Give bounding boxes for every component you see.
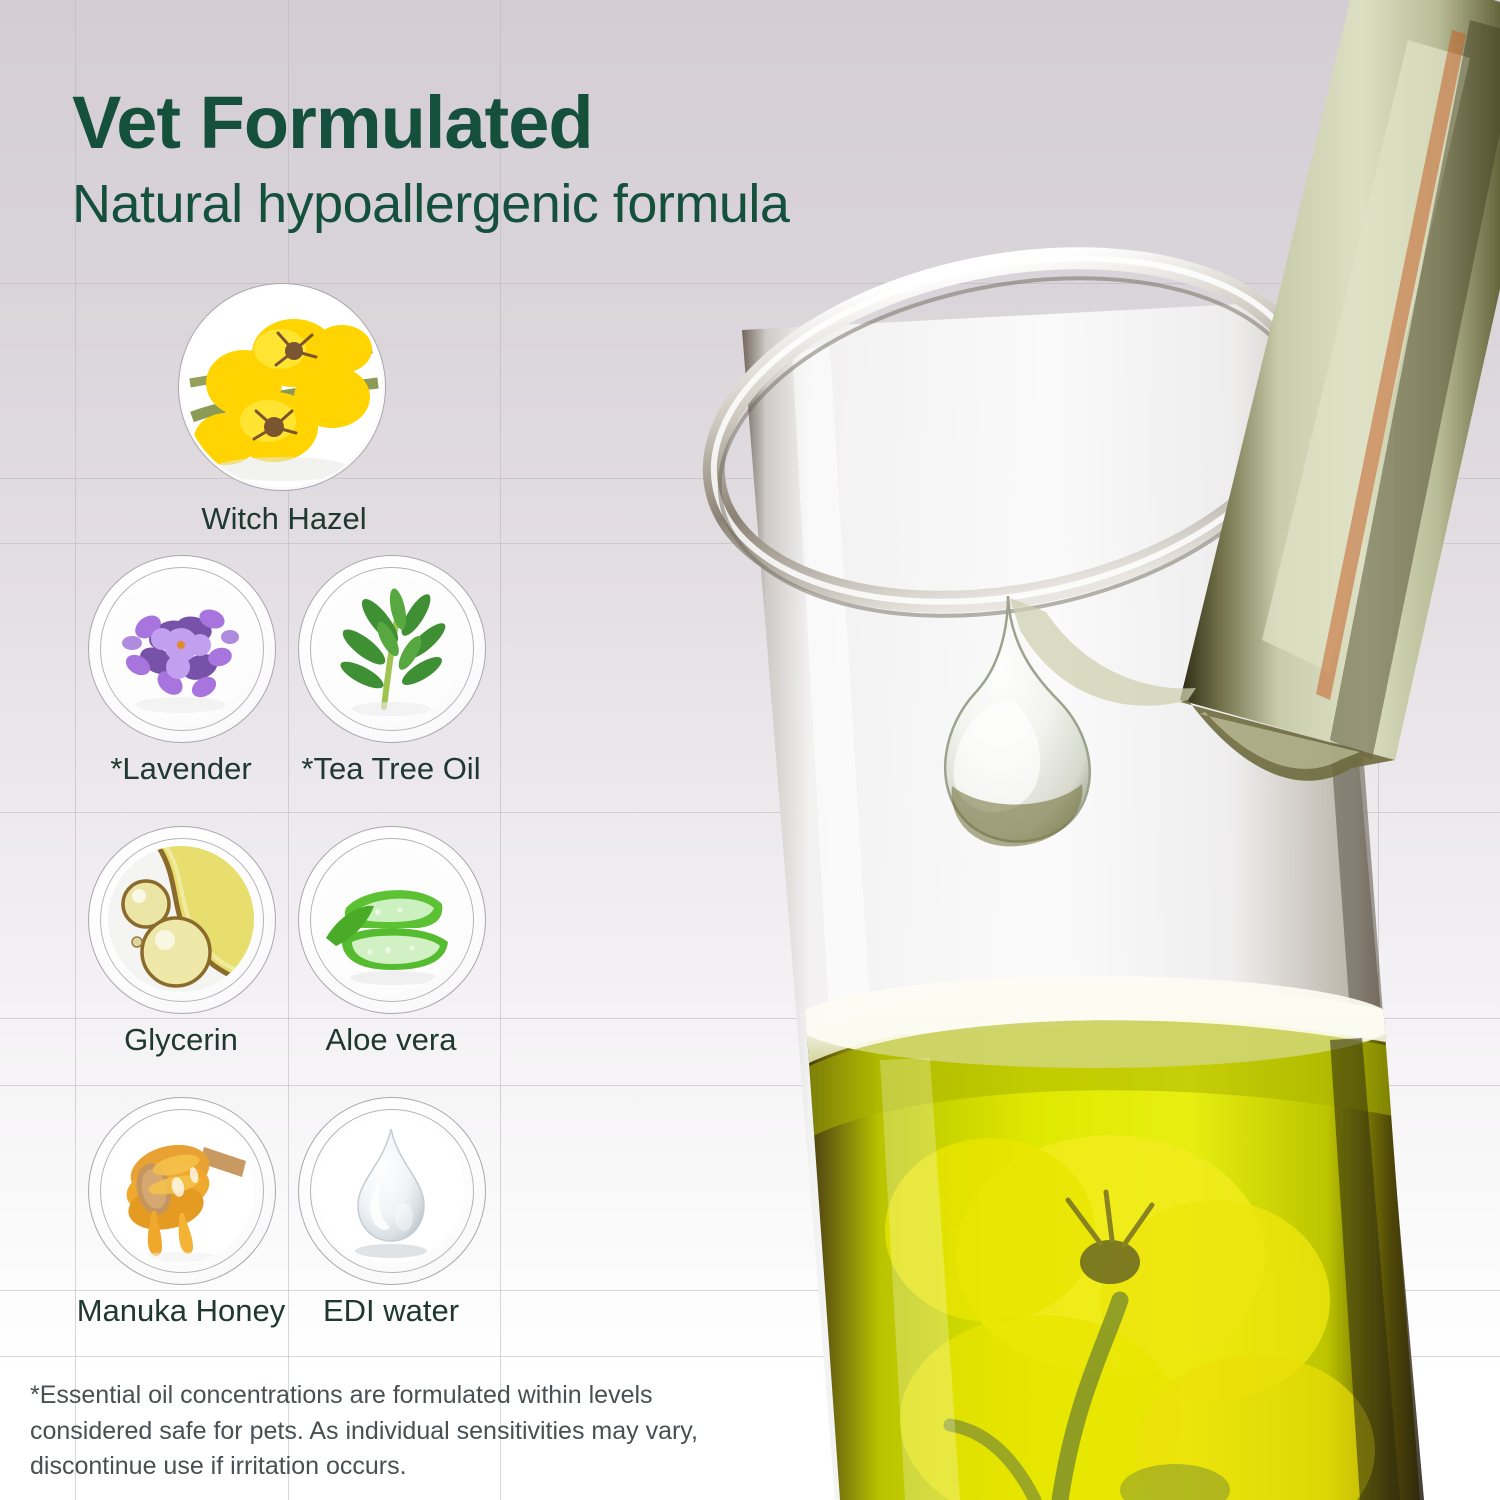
grid-line-h bbox=[0, 1085, 1500, 1086]
honey-dipper-icon bbox=[108, 1117, 254, 1263]
ingredient-label: *Tea Tree Oil bbox=[198, 751, 584, 787]
ingredient-label: EDI water bbox=[198, 1293, 584, 1329]
aloe-leaf-slices-icon bbox=[318, 846, 464, 992]
headline-block: Vet Formulated Natural hypoallergenic fo… bbox=[72, 86, 1032, 234]
suspended-flowers bbox=[885, 1135, 1375, 1500]
witch-hazel-circle bbox=[178, 283, 386, 491]
grid-line-h bbox=[0, 543, 1500, 544]
ingredient-label: Aloe vera bbox=[198, 1022, 584, 1058]
water-droplet-icon bbox=[318, 1117, 464, 1263]
ingredient-witch-hazel: Witch Hazel bbox=[178, 283, 390, 541]
bottle-rim bbox=[684, 211, 1336, 663]
ingredient-edi-water: EDI water bbox=[298, 1097, 498, 1347]
grid-line-v bbox=[1378, 0, 1379, 1500]
oil-stream bbox=[1010, 598, 1196, 706]
glass-bottle bbox=[742, 300, 1424, 1500]
disclaimer-footnote: *Essential oil concentrations are formul… bbox=[30, 1378, 730, 1485]
page-title: Vet Formulated bbox=[72, 86, 1032, 160]
ingredient-aloe-vera: Aloe vera bbox=[298, 826, 498, 1076]
page-subtitle: Natural hypoallergenic formula bbox=[72, 174, 1032, 234]
ingredient-tea-tree-oil: *Tea Tree Oil bbox=[298, 555, 498, 805]
ingredient-label: Witch Hazel bbox=[96, 501, 472, 537]
witch-hazel-flower-icon bbox=[182, 287, 382, 487]
tea-tree-sprig-icon bbox=[318, 575, 464, 721]
grid-line-h bbox=[0, 812, 1500, 813]
product-infographic: Vet Formulated Natural hypoallergenic fo… bbox=[0, 0, 1500, 1500]
herbal-oil-fill bbox=[790, 976, 1430, 1500]
oil-droplet bbox=[945, 596, 1090, 846]
oil-droplets-icon bbox=[108, 846, 254, 992]
dropper-pipette bbox=[1180, 0, 1500, 781]
lavender-flower-icon bbox=[108, 575, 254, 721]
grid-line-h bbox=[0, 1356, 1500, 1357]
